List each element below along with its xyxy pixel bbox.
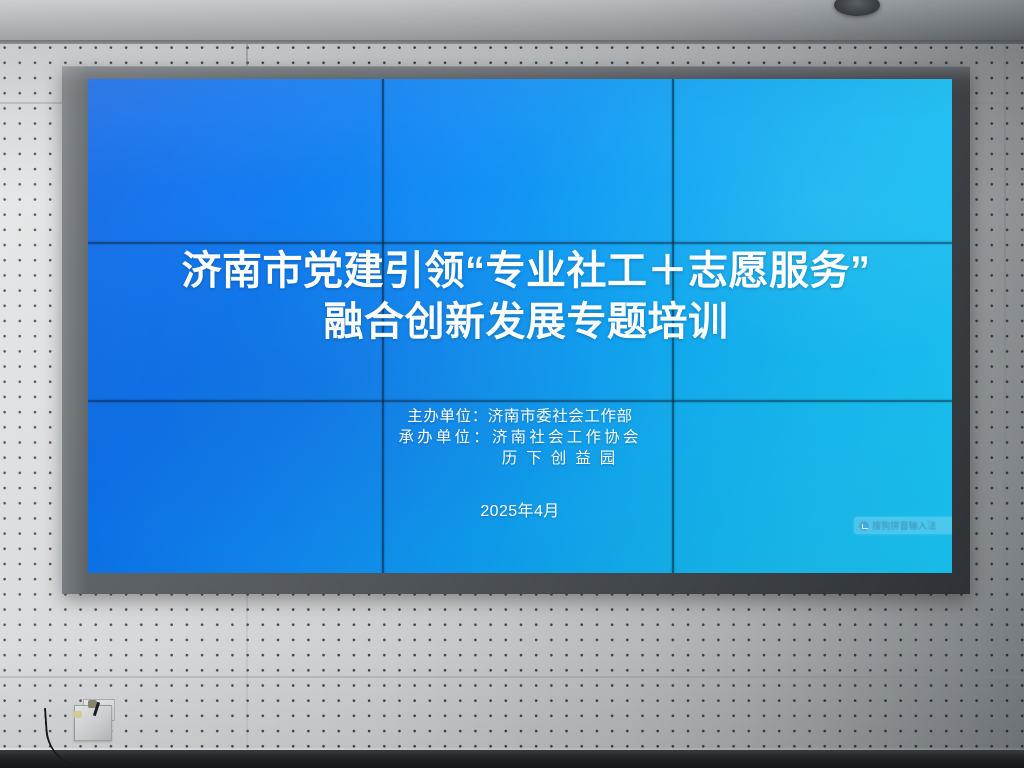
organizer-line-host: 主办单位：济南市委社会工作部: [88, 406, 952, 427]
ime-toolbar[interactable]: 搜狗拼音输入法: [854, 517, 952, 534]
slide-date: 2025年4月: [88, 497, 952, 521]
conference-room-photo: 济南市党建引领“专业社工＋志愿服务” 融合创新发展专题培训 主办单位：济南市委社…: [0, 0, 1024, 768]
video-wall-screen[interactable]: 济南市党建引领“专业社工＋志愿服务” 融合创新发展专题培训 主办单位：济南市委社…: [88, 79, 952, 573]
ime-label: 搜狗拼音输入法: [872, 519, 936, 532]
organizer-block: 主办单位：济南市委社会工作部 承办单位：济南社会工作协会 历下创益园: [88, 406, 952, 469]
ime-logo-icon: [859, 521, 869, 531]
baseboard: [0, 750, 1024, 768]
slide-title-line-2: 融合创新发展专题培训: [88, 289, 952, 347]
organizer-line-coorganizer: 承办单位：济南社会工作协会: [88, 427, 952, 448]
organizer-line-venue: 历下创益园: [88, 448, 952, 469]
slide-title-line-1: 济南市党建引领“专业社工＋志愿服务”: [88, 238, 952, 296]
slide-content: 济南市党建引领“专业社工＋志愿服务” 融合创新发展专题培训 主办单位：济南市委社…: [88, 79, 952, 573]
wall-panel-seam: [0, 676, 1024, 678]
wall-panel-seam: [1004, 44, 1006, 750]
